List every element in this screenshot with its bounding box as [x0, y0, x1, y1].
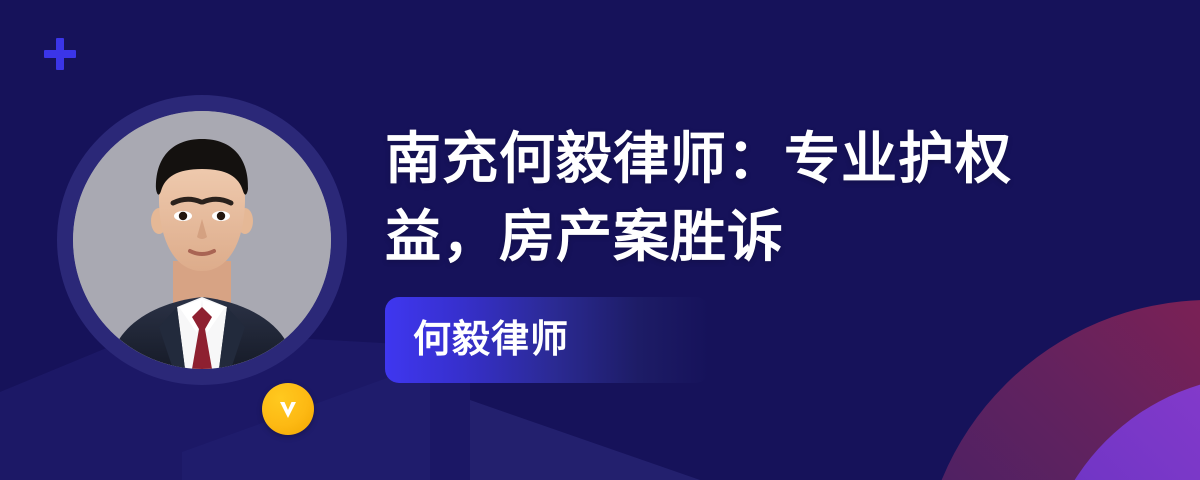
lawyer-name-label: 何毅律师 — [413, 321, 569, 359]
lawyer-profile-banner: 南充何毅律师：专业护权 益，房产案胜诉 何毅律师 — [0, 0, 1200, 480]
plus-icon — [42, 36, 78, 72]
deco-polygon-right — [470, 400, 700, 480]
deco-arc-inner — [1040, 375, 1200, 480]
lawyer-name-button[interactable]: 何毅律师 — [385, 297, 710, 383]
avatar[interactable] — [57, 95, 347, 385]
avatar-photo — [73, 111, 331, 369]
headline-block: 南充何毅律师：专业护权 益，房产案胜诉 — [385, 120, 1145, 277]
deco-arc-outer — [920, 300, 1200, 480]
portrait-illustration — [73, 111, 331, 369]
verified-badge-icon — [262, 383, 314, 435]
page-title: 南充何毅律师：专业护权 益，房产案胜诉 — [385, 120, 1145, 277]
